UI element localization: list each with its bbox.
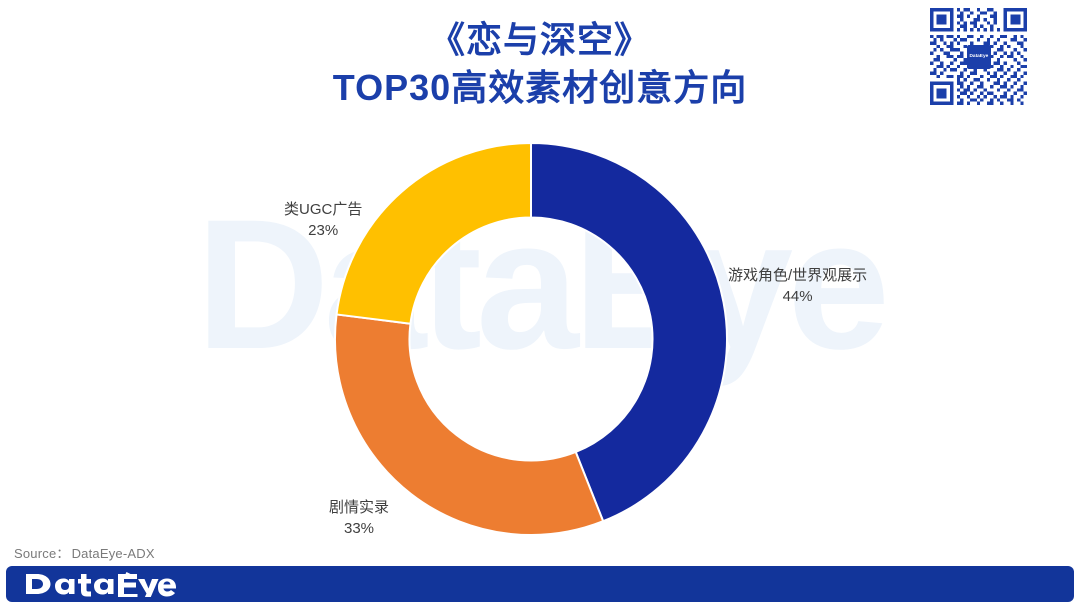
qr-center-logo-label: DataEye	[969, 54, 988, 59]
slide-canvas: DataEye 《恋与深空》 TOP30高效素材创意方向	[0, 0, 1080, 608]
slice-label-blue-name: 游戏角色/世界观展示	[728, 265, 867, 286]
slice-label-yellow-name: 类UGC广告	[284, 199, 362, 220]
title-line-secondary: TOP30高效素材创意方向	[0, 64, 1080, 112]
qr-center-logo: DataEye	[967, 45, 991, 69]
dataeye-logo	[24, 571, 194, 597]
donut-slice-group	[335, 143, 727, 535]
slice-label-orange-value: 33%	[329, 518, 389, 539]
slice-label-yellow: 类UGC广告 23%	[284, 199, 362, 241]
title-line-primary: 《恋与深空》	[0, 16, 1080, 64]
qr-code[interactable]: DataEye	[930, 8, 1027, 105]
slice-label-orange-name: 剧情实录	[329, 497, 389, 518]
footer-bar	[6, 566, 1074, 602]
slice-label-orange: 剧情实录 33%	[329, 497, 389, 539]
donut-slice-3[interactable]	[337, 143, 531, 324]
slice-label-blue-value: 44%	[728, 286, 867, 307]
source-note: Source：DataEye-ADX	[14, 543, 155, 562]
page-title: 《恋与深空》 TOP30高效素材创意方向	[0, 16, 1080, 112]
slice-label-yellow-value: 23%	[284, 220, 362, 241]
source-label: Source：	[14, 546, 70, 561]
slice-label-blue: 游戏角色/世界观展示 44%	[728, 265, 867, 307]
source-value: DataEye-ADX	[72, 546, 155, 561]
